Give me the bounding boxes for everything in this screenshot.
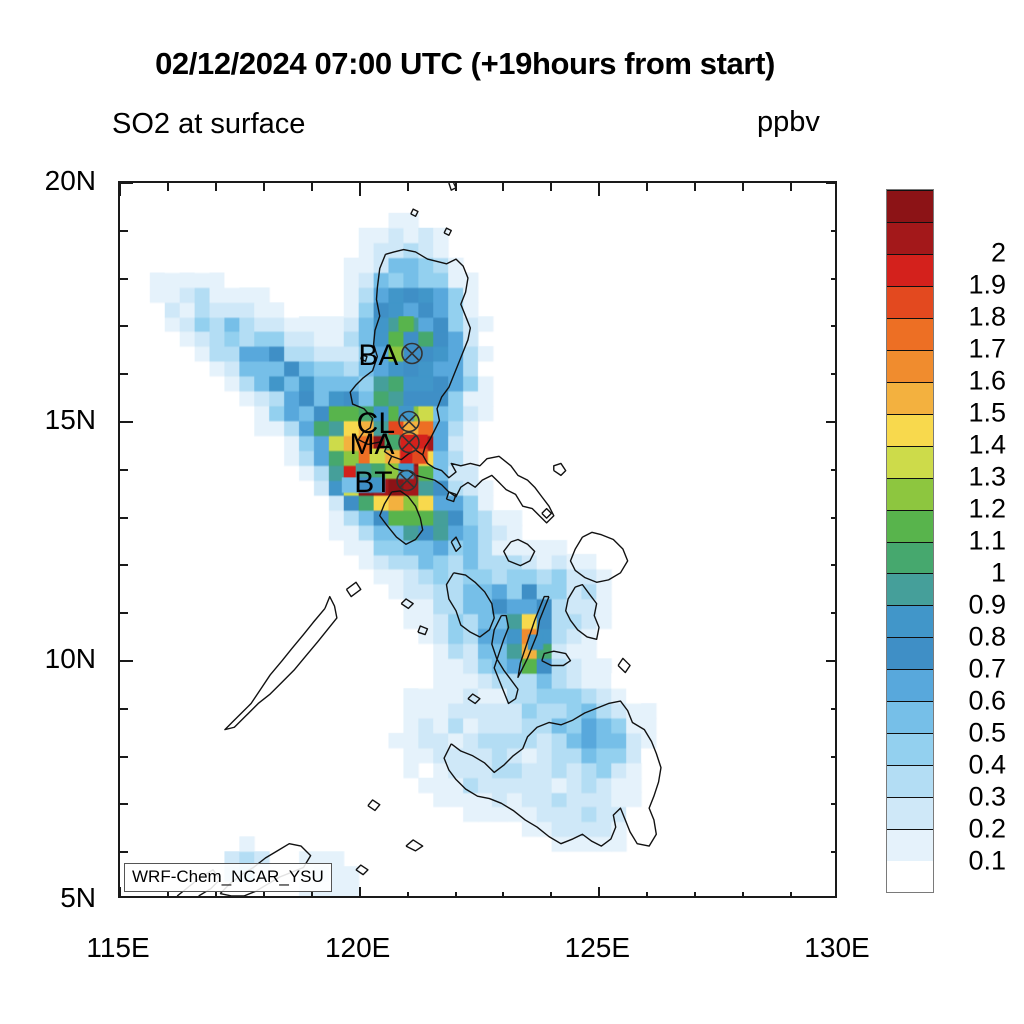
y-tick (831, 373, 837, 375)
y-tick (120, 564, 128, 566)
y-tick (120, 756, 128, 758)
y-tick (120, 421, 133, 423)
x-tick (359, 887, 361, 898)
x-tick (311, 892, 313, 898)
y-tick (826, 660, 837, 662)
y-tick (120, 230, 128, 232)
x-axis-label: 125E (565, 932, 630, 964)
colorbar-tick-labels: 0.10.20.30.40.50.60.70.80.911.11.21.31.4… (938, 189, 1022, 893)
y-axis-label: 20N (0, 165, 96, 197)
y-tick (831, 803, 837, 805)
x-tick (215, 892, 217, 898)
colorbar-band (887, 573, 933, 605)
y-tick (120, 851, 128, 853)
station-marker-ma[interactable] (396, 429, 422, 460)
x-tick (742, 892, 744, 898)
colorbar-tick-label: 0.3 (968, 782, 1006, 813)
x-tick (119, 183, 121, 196)
x-tick (167, 183, 169, 191)
colorbar-band (887, 510, 933, 542)
y-tick (120, 660, 133, 662)
colorbar-tick-label: 0.7 (968, 654, 1006, 685)
y-axis-label: 10N (0, 643, 96, 675)
colorbar-band (887, 797, 933, 829)
colorbar-tick-label: 0.5 (968, 718, 1006, 749)
colorbar-band (887, 254, 933, 286)
y-tick (120, 803, 128, 805)
y-tick (826, 182, 837, 184)
y-tick (120, 182, 133, 184)
y-tick (831, 851, 837, 853)
colorbar-tick-label: 1.4 (968, 430, 1006, 461)
figure-title: 02/12/2024 07:00 UTC (+19hours from star… (0, 46, 930, 82)
x-tick (598, 183, 600, 196)
colorbar-tick-label: 1 (991, 558, 1006, 589)
colorbar-band (887, 637, 933, 669)
colorbar-band (887, 669, 933, 701)
colorbar-band (887, 414, 933, 446)
x-tick (550, 183, 552, 191)
y-tick (120, 612, 128, 614)
colorbar-band (887, 350, 933, 382)
y-tick (120, 517, 128, 519)
colorbar-tick-label: 0.8 (968, 622, 1006, 653)
station-label-bt: BT (354, 466, 393, 500)
x-tick (646, 183, 648, 191)
y-axis-label: 5N (0, 882, 96, 914)
x-tick (359, 183, 361, 196)
so2-map-figure: 02/12/2024 07:00 UTC (+19hours from star… (0, 0, 1024, 1024)
colorbar-tick-label: 0.6 (968, 686, 1006, 717)
x-axis-label: 130E (804, 932, 869, 964)
colorbar-tick-label: 1.1 (968, 526, 1006, 557)
y-tick (120, 278, 128, 280)
colorbar-band (887, 542, 933, 574)
colorbar-band (887, 605, 933, 637)
y-tick (120, 708, 128, 710)
x-tick (742, 183, 744, 191)
x-tick (263, 183, 265, 191)
x-tick (790, 892, 792, 898)
x-tick (167, 892, 169, 898)
colorbar-band (887, 829, 933, 861)
y-tick (831, 612, 837, 614)
y-tick (831, 325, 837, 327)
x-tick (119, 887, 121, 898)
colorbar-tick-label: 0.1 (968, 846, 1006, 877)
x-tick (646, 892, 648, 898)
coastline-overlay (120, 183, 835, 896)
x-tick (502, 183, 504, 191)
x-tick (694, 183, 696, 191)
y-tick (831, 756, 837, 758)
map-plot-area: BACLMABT WRF-Chem_NCAR_YSU (118, 181, 837, 898)
colorbar-units-label: ppbv (757, 106, 820, 139)
colorbar-band (887, 286, 933, 318)
x-axis-label: 120E (325, 932, 390, 964)
y-tick (831, 564, 837, 566)
colorbar-band (887, 222, 933, 254)
colorbar-band (887, 318, 933, 350)
y-tick (826, 421, 837, 423)
colorbar-tick-label: 2 (991, 238, 1006, 269)
y-tick (831, 708, 837, 710)
colorbar-band (887, 765, 933, 797)
y-tick (831, 230, 837, 232)
x-tick (215, 183, 217, 191)
x-tick (407, 892, 409, 898)
y-tick (120, 325, 128, 327)
y-tick (120, 469, 128, 471)
x-axis-label: 115E (86, 932, 149, 964)
figure-subtitle: SO2 at surface (112, 108, 305, 141)
x-tick (263, 892, 265, 898)
y-axis-label: 15N (0, 404, 96, 436)
x-tick (790, 183, 792, 191)
x-tick (694, 892, 696, 898)
colorbar-band (887, 382, 933, 414)
x-tick (550, 892, 552, 898)
x-tick (502, 892, 504, 898)
y-tick (831, 469, 837, 471)
colorbar-tick-label: 1.7 (968, 334, 1006, 365)
y-tick (831, 517, 837, 519)
x-tick (407, 183, 409, 191)
colorbar-tick-label: 1.6 (968, 366, 1006, 397)
colorbar-band (887, 478, 933, 510)
colorbar-tick-label: 1.8 (968, 302, 1006, 333)
colorbar-tick-label: 1.3 (968, 462, 1006, 493)
station-label-ma: MA (350, 428, 396, 462)
colorbar-band (887, 861, 933, 892)
colorbar (886, 189, 934, 893)
colorbar-tick-label: 0.9 (968, 590, 1006, 621)
x-tick (311, 183, 313, 191)
colorbar-band (887, 190, 933, 222)
colorbar-tick-label: 0.4 (968, 750, 1006, 781)
y-tick (120, 373, 128, 375)
model-name-tag: WRF-Chem_NCAR_YSU (124, 863, 332, 892)
station-label-ba: BA (358, 339, 399, 373)
station-marker-ba[interactable] (399, 341, 425, 372)
colorbar-band (887, 733, 933, 765)
colorbar-tick-label: 1.9 (968, 270, 1006, 301)
colorbar-tick-label: 1.5 (968, 398, 1006, 429)
station-marker-bt[interactable] (394, 468, 420, 499)
colorbar-tick-label: 0.2 (968, 814, 1006, 845)
colorbar-tick-label: 1.2 (968, 494, 1006, 525)
x-tick (455, 183, 457, 191)
colorbar-band (887, 446, 933, 478)
colorbar-band (887, 701, 933, 733)
x-tick (455, 892, 457, 898)
x-tick (598, 887, 600, 898)
y-tick (831, 278, 837, 280)
